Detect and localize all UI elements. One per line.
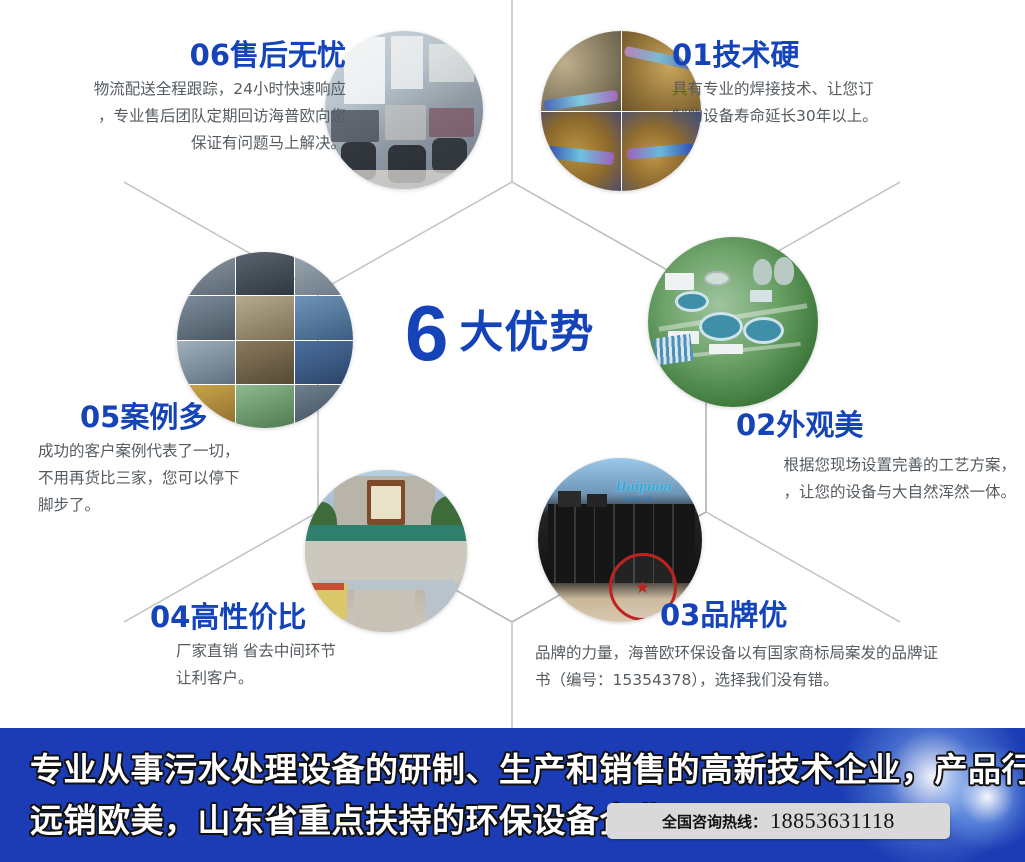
feature-05-title: 05案例多 <box>80 402 348 432</box>
feature-05-desc-line-3: 脚步了。 <box>38 496 100 514</box>
feature-02-appearance: 02外观美 根据您现场设置完善的工艺方案， ，让您的设备与大自然浑然一体。 <box>736 410 1011 440</box>
feature-05-cases: 05案例多 成功的客户案例代表了一切， 不用再货比三家，您可以停下 脚步了。 <box>38 402 348 518</box>
infographic-six-advantages: 6 大优势 <box>0 0 1025 862</box>
feature-01-desc-line-2: 制的设备寿命延长30年以上。 <box>672 107 878 125</box>
photo-office-staff-workstation <box>325 31 483 189</box>
feature-02-desc-line-1: 根据您现场设置完善的工艺方案， <box>783 456 1016 474</box>
feature-06-desc-line-2: ，专业售后团队定期回访海普欧向您 <box>98 107 346 125</box>
center-headline: 6 大优势 <box>405 288 635 378</box>
feature-04-title: 04高性价比 <box>150 602 470 632</box>
feature-03-desc: 品牌的力量，海普欧环保设备以有国家商标局案发的品牌证 书（编号：15354378… <box>535 640 995 693</box>
feature-01-title: 01技术硬 <box>672 40 1012 70</box>
center-word: 大优势 <box>459 311 594 355</box>
feature-06-desc-line-1: 物流配送全程跟踪，24小时快速响应 <box>94 80 346 98</box>
photo-aerial-wastewater-plant <box>648 237 818 407</box>
feature-04-desc-line-1: 厂家直销 省去中间环节 <box>176 642 336 660</box>
feature-06-desc-line-3: 保证有问题马上解决。 <box>191 134 346 152</box>
feature-03-desc-line-2: 书（编号：15354378），选择我们没有错。 <box>535 671 839 689</box>
hotline-box[interactable]: 全国咨询热线： 18853631118 <box>607 803 950 839</box>
feature-01-desc-line-1: 具有专业的焊接技术、让您订 <box>672 80 874 98</box>
bottom-banner: 专业从事污水处理设备的研制、生产和销售的高新技术企业，产品行销全国并 远销欧美，… <box>0 728 1025 862</box>
feature-06-title: 06售后无忧 <box>16 40 346 70</box>
equipment-brand-sub: 海普欧环保 <box>623 496 653 503</box>
hotline-label: 全国咨询热线： <box>662 811 767 832</box>
feature-01-desc: 具有专业的焊接技术、让您订 制的设备寿命延长30年以上。 <box>672 76 1012 129</box>
feature-05-desc-line-1: 成功的客户案例代表了一切， <box>38 442 240 460</box>
feature-06-desc: 物流配送全程跟踪，24小时快速响应 ，专业售后团队定期回访海普欧向您 保证有问题… <box>16 76 346 156</box>
feature-02-desc-line-2: ，让您的设备与大自然浑然一体。 <box>783 483 1016 501</box>
feature-01-technology: 01技术硬 具有专业的焊接技术、让您订 制的设备寿命延长30年以上。 <box>672 40 1012 130</box>
feature-03-desc-line-1: 品牌的力量，海普欧环保设备以有国家商标局案发的品牌证 <box>535 644 938 662</box>
feature-02-desc: 根据您现场设置完善的工艺方案， ，让您的设备与大自然浑然一体。 <box>656 452 1016 505</box>
feature-04-value: 04高性价比 厂家直销 省去中间环节 让利客户。 <box>150 602 470 692</box>
feature-02-title: 02外观美 <box>736 410 1011 440</box>
feature-06-after-sales: 06售后无忧 物流配送全程跟踪，24小时快速响应 ，专业售后团队定期回访海普欧向… <box>16 40 346 156</box>
feature-04-desc-line-2: 让利客户。 <box>176 669 254 687</box>
feature-04-desc: 厂家直销 省去中间环节 让利客户。 <box>176 638 470 691</box>
hotline-number: 18853631118 <box>770 808 895 834</box>
sparkle-icon-2 <box>990 796 1025 862</box>
feature-05-desc-line-2: 不用再货比三家，您可以停下 <box>38 469 240 487</box>
feature-05-desc: 成功的客户案例代表了一切， 不用再货比三家，您可以停下 脚步了。 <box>38 438 348 518</box>
center-number: 6 <box>405 294 447 372</box>
feature-03-brand: 03品牌优 品牌的力量，海普欧环保设备以有国家商标局案发的品牌证 书（编号：15… <box>660 600 1000 630</box>
feature-03-title: 03品牌优 <box>660 600 1000 630</box>
banner-line-1: 专业从事污水处理设备的研制、生产和销售的高新技术企业，产品行销全国并 <box>30 744 900 795</box>
stamp-star-icon: ★ <box>635 579 650 596</box>
